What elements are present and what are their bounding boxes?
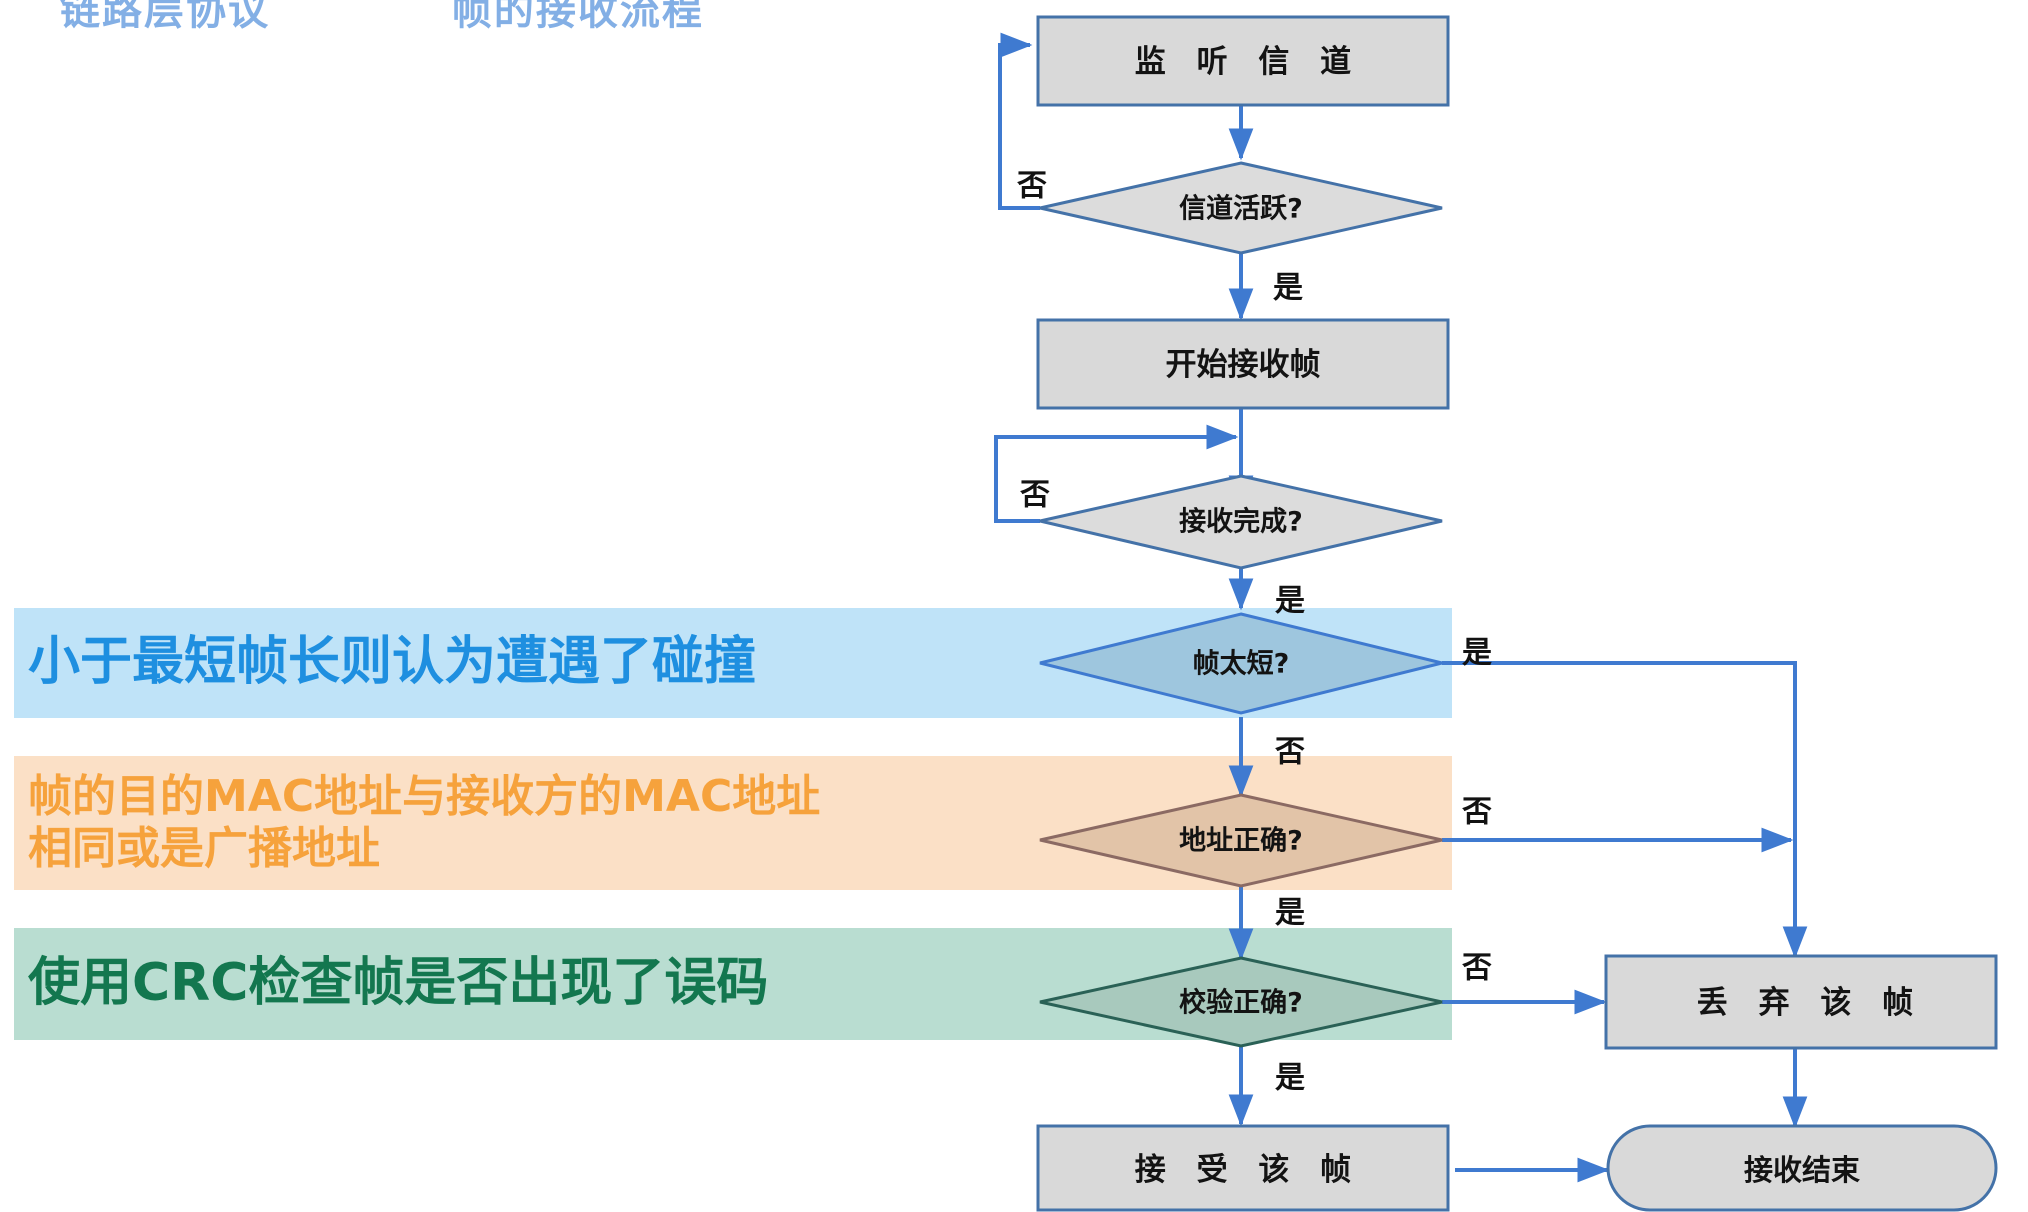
node-accept-label: 接 受 该 帧 [1135, 1152, 1361, 1188]
node-start-recv-label: 开始接收帧 [1166, 347, 1321, 383]
edge-label-addr-ok-yes: 是 [1275, 896, 1305, 931]
edge-label-addr-ok-no: 否 [1462, 795, 1492, 830]
node-frame-short[interactable]: 帧太短? [1040, 614, 1442, 713]
edge-label-crc-ok-yes: 是 [1275, 1061, 1305, 1096]
flowchart-canvas: 链路层协议 帧的接收流程 小于最短帧长则认为遭遇了碰撞 帧的目的MAC地址与接收… [0, 0, 2028, 1212]
node-listen[interactable]: 监 听 信 道 [1038, 17, 1448, 105]
node-start-recv[interactable]: 开始接收帧 [1038, 320, 1448, 408]
edge-label-frame-short-no: 否 [1275, 735, 1305, 770]
node-frame-short-label: 帧太短? [1193, 649, 1290, 680]
node-recv-done[interactable]: 接收完成? [1040, 476, 1442, 568]
flow-svg: 监 听 信 道 信道活跃? 开始接收帧 接收完成? 帧太短? 地址正确? [0, 0, 2028, 1212]
edge-label-crc-ok-no: 否 [1462, 951, 1492, 986]
node-end-label: 接收结束 [1744, 1153, 1860, 1187]
node-channel-busy[interactable]: 信道活跃? [1040, 163, 1442, 253]
node-accept[interactable]: 接 受 该 帧 [1038, 1126, 1448, 1210]
edge-frame-short-yes-to-discard [1442, 663, 1795, 956]
edge-label-recv-done-no: 否 [1020, 478, 1050, 513]
node-crc-ok[interactable]: 校验正确? [1040, 958, 1442, 1046]
node-listen-label: 监 听 信 道 [1135, 44, 1361, 80]
node-discard[interactable]: 丢 弃 该 帧 [1606, 956, 1996, 1048]
node-recv-done-label: 接收完成? [1179, 506, 1303, 538]
edge-label-frame-short-yes: 是 [1462, 636, 1492, 671]
node-addr-ok[interactable]: 地址正确? [1040, 795, 1442, 886]
edge-label-channel-busy-yes: 是 [1273, 271, 1303, 306]
edge-label-channel-busy-no: 否 [1017, 169, 1047, 204]
node-channel-busy-label: 信道活跃? [1179, 193, 1303, 225]
node-end[interactable]: 接收结束 [1608, 1126, 1996, 1210]
node-crc-ok-label: 校验正确? [1179, 987, 1303, 1019]
edge-label-recv-done-yes: 是 [1275, 584, 1305, 619]
node-addr-ok-label: 地址正确? [1179, 825, 1303, 857]
node-discard-label: 丢 弃 该 帧 [1697, 985, 1923, 1021]
